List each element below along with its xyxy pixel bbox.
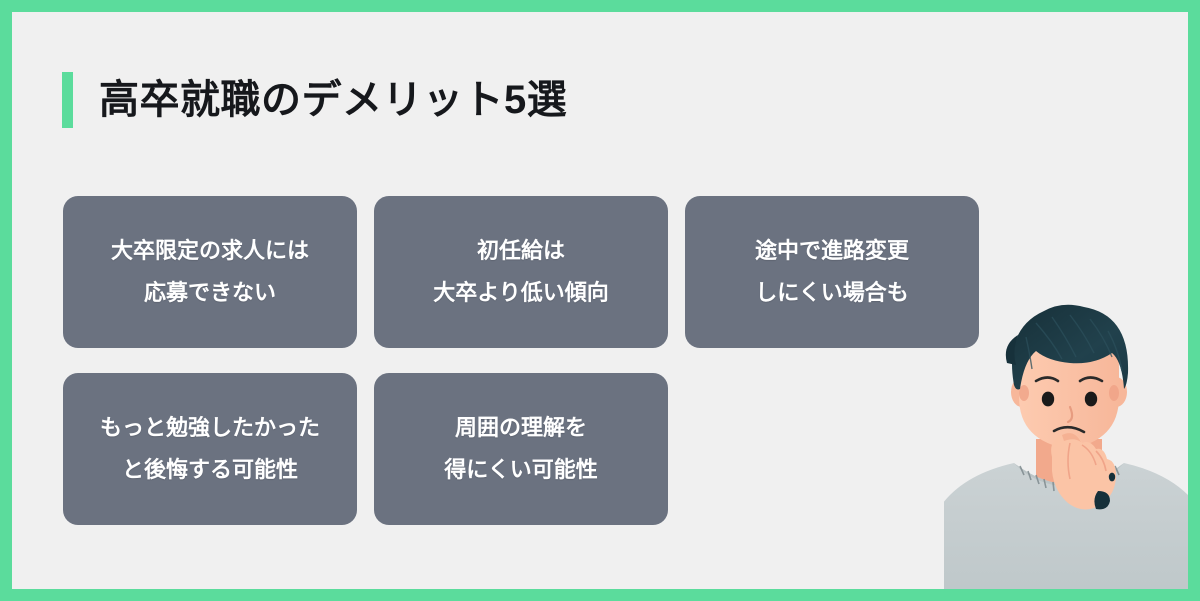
demerit-card-grid: 大卒限定の求人には 応募できない 初任給は 大卒より低い傾向 途中で進路変更 し…: [63, 196, 1003, 550]
card-4-line-1: もっと勉強したかった: [100, 407, 320, 449]
card-1-line-2: 応募できない: [144, 272, 276, 314]
thinking-young-man-illustration: [944, 289, 1188, 589]
demerit-card-2[interactable]: 初任給は 大卒より低い傾向: [374, 196, 668, 348]
page-title: 高卒就職のデメリット5選: [99, 80, 567, 120]
header: 高卒就職のデメリット5選: [62, 72, 567, 128]
demerit-card-1[interactable]: 大卒限定の求人には 応募できない: [63, 196, 357, 348]
card-4-line-2: と後悔する可能性: [122, 449, 298, 491]
card-1-line-1: 大卒限定の求人には: [111, 230, 309, 272]
card-row-2: もっと勉強したかった と後悔する可能性 周囲の理解を 得にくい可能性: [63, 373, 1003, 525]
slide-canvas: 高卒就職のデメリット5選 大卒限定の求人には 応募できない 初任給は 大卒より低…: [12, 12, 1188, 589]
card-2-line-1: 初任給は: [477, 230, 565, 272]
demerit-card-5[interactable]: 周囲の理解を 得にくい可能性: [374, 373, 668, 525]
slide-frame: 高卒就職のデメリット5選 大卒限定の求人には 応募できない 初任給は 大卒より低…: [0, 0, 1200, 601]
title-accent-bar: [62, 72, 73, 128]
card-3-line-1: 途中で進路変更: [755, 230, 909, 272]
card-row-1: 大卒限定の求人には 応募できない 初任給は 大卒より低い傾向 途中で進路変更 し…: [63, 196, 1003, 348]
card-3-line-2: しにくい場合も: [755, 272, 909, 314]
card-5-line-1: 周囲の理解を: [455, 407, 587, 449]
demerit-card-3[interactable]: 途中で進路変更 しにくい場合も: [685, 196, 979, 348]
demerit-card-4[interactable]: もっと勉強したかった と後悔する可能性: [63, 373, 357, 525]
card-2-line-2: 大卒より低い傾向: [433, 272, 609, 314]
card-5-line-2: 得にくい可能性: [444, 449, 598, 491]
